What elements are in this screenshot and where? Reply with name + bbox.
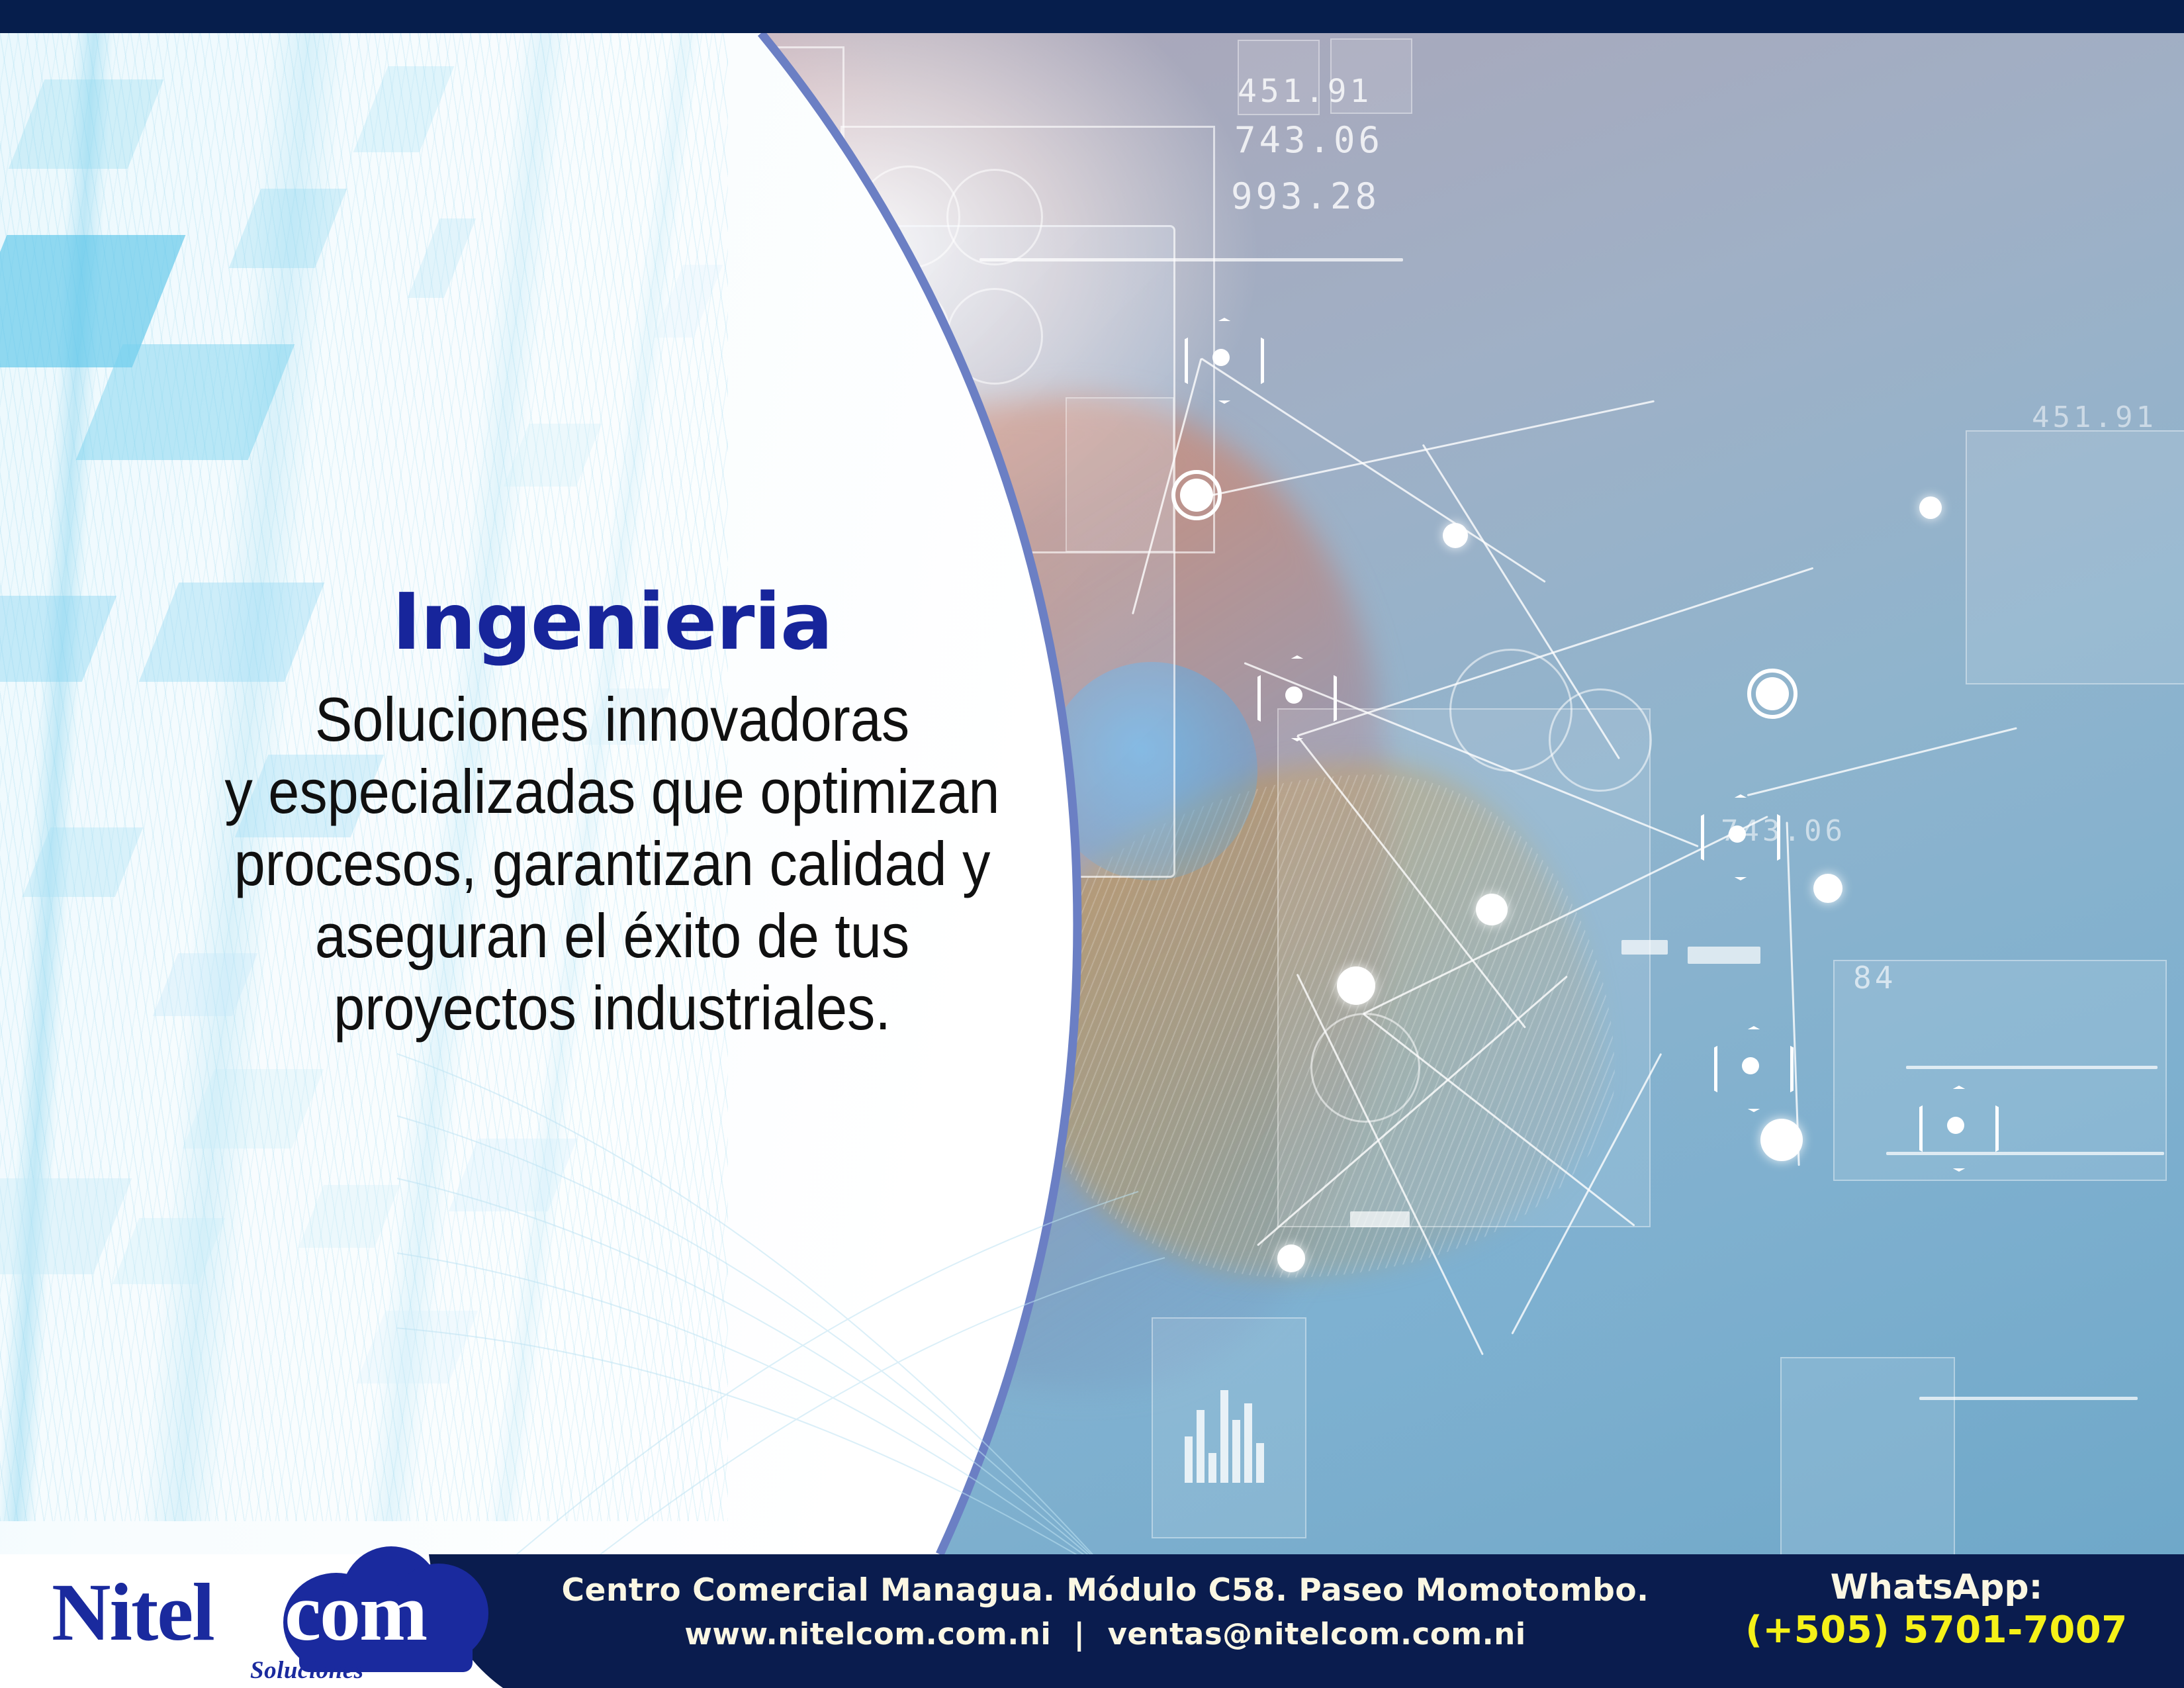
body-line-1: Soluciones innovadoras bbox=[133, 683, 1092, 755]
net-node-6 bbox=[1919, 496, 1942, 519]
logo-word-nitel: Nitel bbox=[52, 1571, 214, 1654]
footer-web-email-line: www.nitelcom.com.ni | ventas@nitelcom.co… bbox=[510, 1613, 1701, 1656]
hud-chip-3 bbox=[1621, 940, 1668, 955]
net-hexnode-4 bbox=[1714, 1026, 1787, 1105]
net-hexnode-5 bbox=[1919, 1086, 1992, 1165]
footer-website[interactable]: www.nitelcom.com.ni bbox=[684, 1617, 1051, 1652]
hud-number-5: 84 bbox=[1853, 960, 1896, 996]
footer-email[interactable]: ventas@nitelcom.com.ni bbox=[1108, 1617, 1526, 1652]
footer-separator: | bbox=[1062, 1617, 1097, 1652]
hud-bar-2 bbox=[1906, 1066, 2158, 1069]
net-ringnode-2 bbox=[1747, 669, 1797, 719]
body-copy: Soluciones innovadoras y especializadas … bbox=[133, 683, 1092, 1044]
hud-number-4: 451.91 bbox=[2032, 400, 2157, 434]
copy-block: Ingenieria Soluciones innovadoras y espe… bbox=[79, 583, 1145, 1044]
hud-bar-4 bbox=[1919, 1397, 2138, 1400]
net-node-2 bbox=[1760, 1119, 1803, 1161]
whatsapp-label: WhatsApp: bbox=[1711, 1568, 2161, 1608]
body-line-4: aseguran el éxito de tus bbox=[133, 900, 1092, 972]
poster-canvas: 451.91 743.06 993.28 743.06 451.91 84 84… bbox=[0, 0, 2184, 1688]
top-navy-bar bbox=[0, 0, 2184, 33]
brand-logo[interactable]: Nitel com Soluciones Confiables bbox=[52, 1557, 475, 1688]
hud-dial-6 bbox=[1549, 688, 1652, 792]
whatsapp-block[interactable]: WhatsApp: (+505) 5701-7007 bbox=[1711, 1568, 2161, 1654]
net-node-4 bbox=[1813, 874, 1843, 903]
hud-panel-chart-right bbox=[1966, 430, 2184, 684]
page-title: Ingenieria bbox=[79, 583, 1145, 661]
logo-word-com: com bbox=[285, 1571, 426, 1654]
hud-panel-bottom-right bbox=[1780, 1357, 1955, 1554]
body-line-2: y especializadas que optimizan bbox=[133, 755, 1092, 827]
body-line-5: proyectos industriales. bbox=[133, 972, 1092, 1044]
hud-chip-1 bbox=[1688, 947, 1760, 964]
body-line-3: procesos, garantizan calidad y bbox=[133, 827, 1092, 900]
net-hexnode-3 bbox=[1701, 794, 1774, 874]
footer-contact-info: Centro Comercial Managua. Módulo C58. Pa… bbox=[510, 1569, 1701, 1656]
net-node-5 bbox=[1443, 523, 1468, 548]
swirl-ribbons bbox=[397, 993, 1191, 1589]
net-node-3 bbox=[1476, 894, 1508, 925]
footer-address-line: Centro Comercial Managua. Módulo C58. Pa… bbox=[510, 1569, 1701, 1613]
logo-tagline: Soluciones Confiables bbox=[250, 1656, 475, 1688]
whatsapp-number[interactable]: (+505) 5701-7007 bbox=[1711, 1608, 2161, 1653]
